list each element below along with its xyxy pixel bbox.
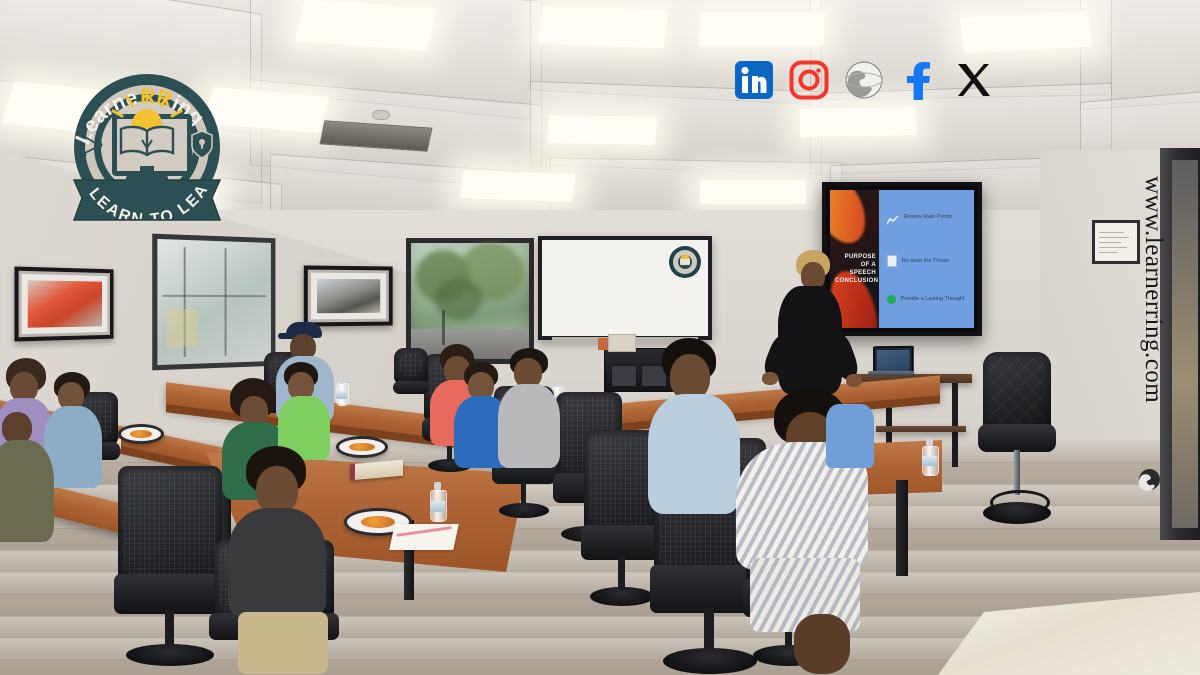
ceiling-light (460, 170, 576, 202)
student (648, 338, 740, 528)
student (500, 348, 558, 466)
drafting-stool[interactable] (978, 352, 1056, 524)
whiteboard-logo-decal (669, 246, 701, 278)
student (278, 362, 328, 458)
logo-tagline: LEARN TO LEAD (62, 167, 212, 219)
student (826, 404, 874, 468)
supply-caddy (608, 334, 636, 352)
globe-watermark-icon (1138, 468, 1161, 491)
shield-icon (190, 130, 214, 160)
water-bottle (430, 482, 445, 522)
svg-text:LEARN TO LEAD: LEARN TO LEAD (62, 167, 212, 219)
slide-bullet: Re-state the Thesis (887, 255, 950, 267)
x-icon[interactable] (952, 58, 996, 102)
ceiling-light (537, 6, 668, 48)
linkedin-icon[interactable] (732, 58, 776, 102)
student (0, 412, 54, 542)
instagram-icon[interactable] (787, 58, 831, 102)
desk-lower-shelf (876, 426, 966, 432)
office-chair[interactable] (118, 466, 222, 666)
ceiling-light (547, 115, 657, 145)
social-icons-row (732, 58, 996, 102)
chart-icon (887, 212, 899, 221)
paper-plate (118, 424, 164, 444)
paper-plate (336, 436, 388, 458)
network-node-icon (78, 130, 104, 160)
slide-bullet: Review Main Points (887, 212, 952, 221)
table-leg (896, 480, 908, 576)
framed-photo-aircraft (304, 265, 393, 326)
framed-certificate (1092, 220, 1140, 264)
laptop-keyboard (867, 371, 914, 376)
framed-photo-helicopter (14, 266, 113, 341)
green-dot-icon (887, 295, 896, 304)
water-bottle (336, 378, 347, 406)
ceiling-light (800, 107, 917, 137)
water-bottle (922, 438, 937, 476)
office-chair[interactable] (394, 348, 428, 410)
learnerring-logo: Learne RR ing (62, 72, 232, 234)
facebook-icon[interactable] (897, 58, 941, 102)
document-icon (887, 255, 897, 267)
slide-bullet-label: Re-state the Thesis (902, 258, 950, 264)
pens-cup (598, 338, 608, 350)
ceiling-light (699, 12, 824, 46)
open-book-icon (118, 124, 176, 158)
slide-bullet-label: Review Main Points (904, 214, 952, 220)
student (46, 372, 102, 488)
slide-bullet: Provide a Lasting Thought (887, 295, 965, 304)
globe-icon[interactable] (842, 58, 886, 102)
ceiling-light (700, 180, 806, 204)
desk-leg (952, 383, 958, 467)
student (224, 446, 332, 674)
logo-tagline-ribbon: LEARN TO LEAD (62, 167, 232, 219)
ceiling-light (960, 11, 1092, 54)
interior-window (152, 234, 275, 371)
website-watermark: www.learnerring.com (1139, 176, 1167, 403)
whiteboard (538, 236, 712, 340)
smoke-detector (372, 110, 390, 120)
slide-body: Review Main Points Re-state the Thesis P… (879, 190, 974, 328)
slide-bullet-label: Provide a Lasting Thought (901, 296, 965, 302)
photo-scene: PURPOSE OF A SPEECH CONCLUSION Review Ma… (0, 0, 1200, 675)
